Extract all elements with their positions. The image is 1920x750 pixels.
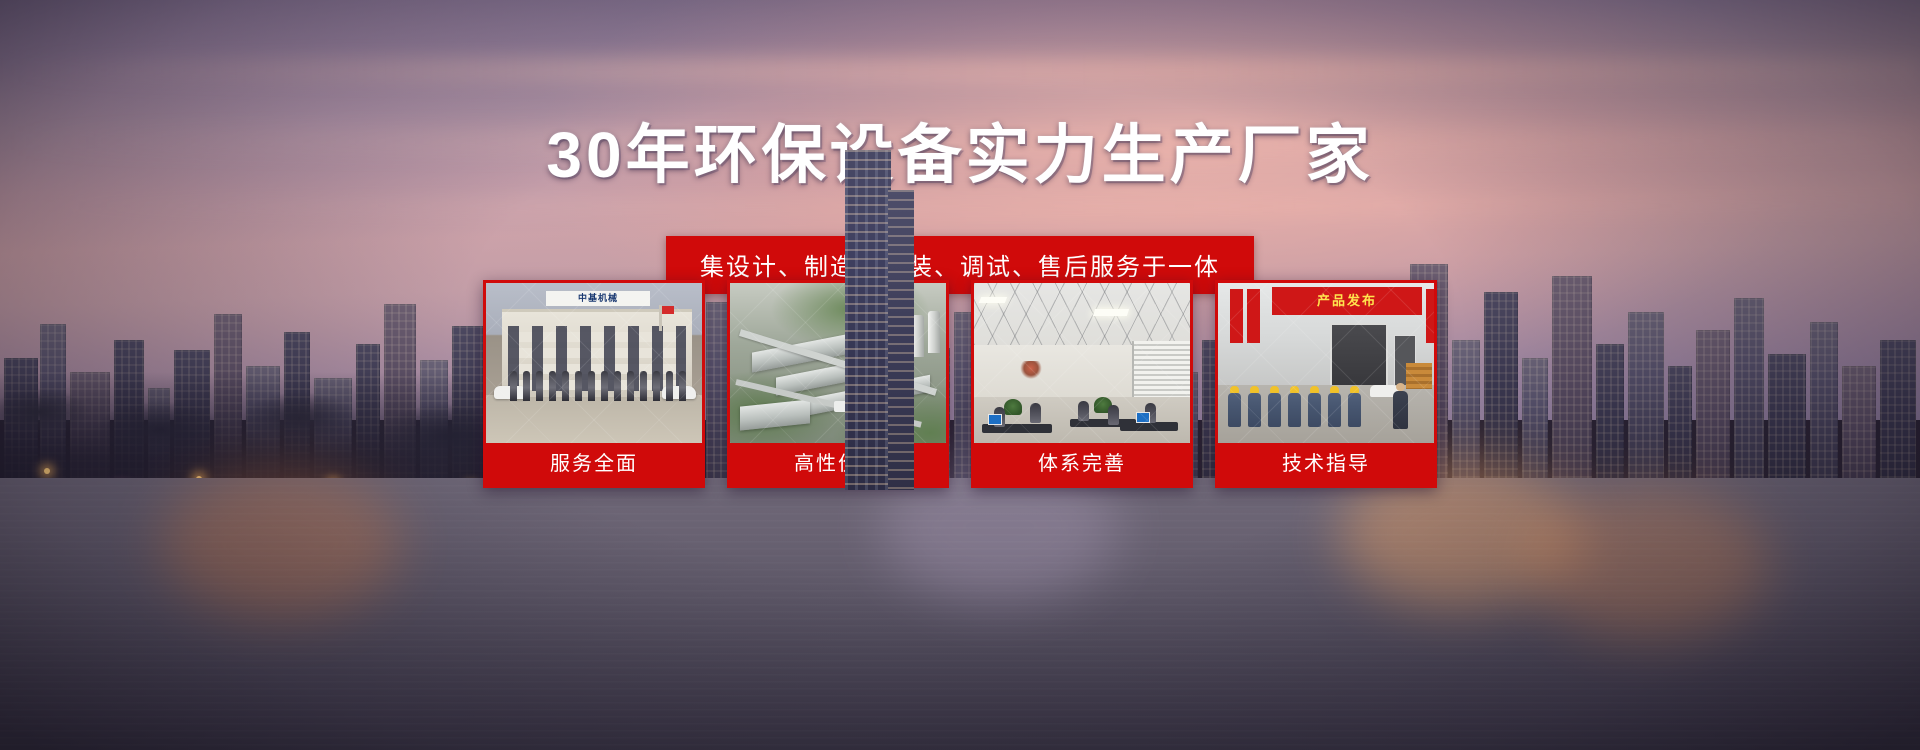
feature-card[interactable]: 高性价比 — [727, 280, 949, 488]
building-signboard: 中基机械 — [546, 291, 650, 306]
card-photo-factory-gate: 产品发布 — [1218, 283, 1434, 443]
tower-annex — [888, 190, 914, 490]
card-caption: 体系完善 — [974, 443, 1190, 485]
feature-card[interactable]: 产品发布 技术指导 — [1215, 280, 1437, 488]
page-title: 30年环保设备实力生产厂家 — [0, 104, 1920, 196]
feature-card-list: 中基机械 服务全面 — [483, 280, 1437, 488]
flag-icon — [659, 305, 662, 331]
feature-card[interactable]: 中基机械 服务全面 — [483, 280, 705, 488]
hero-banner: 30年环保设备实力生产厂家 集设计、制造、安装、调试、售后服务于一体 中基机械 — [0, 0, 1920, 750]
card-caption: 技术指导 — [1218, 443, 1434, 485]
feature-card[interactable]: 体系完善 — [971, 280, 1193, 488]
zifeng-tower — [845, 150, 891, 490]
factory-banner-text: 产品发布 — [1272, 287, 1422, 315]
wall-decal-icon — [1020, 361, 1042, 379]
card-photo-headquarters: 中基机械 — [486, 283, 702, 443]
banner-content: 30年环保设备实力生产厂家 集设计、制造、安装、调试、售后服务于一体 中基机械 — [0, 0, 1920, 750]
card-caption: 服务全面 — [486, 443, 702, 485]
card-photo-office — [974, 283, 1190, 443]
